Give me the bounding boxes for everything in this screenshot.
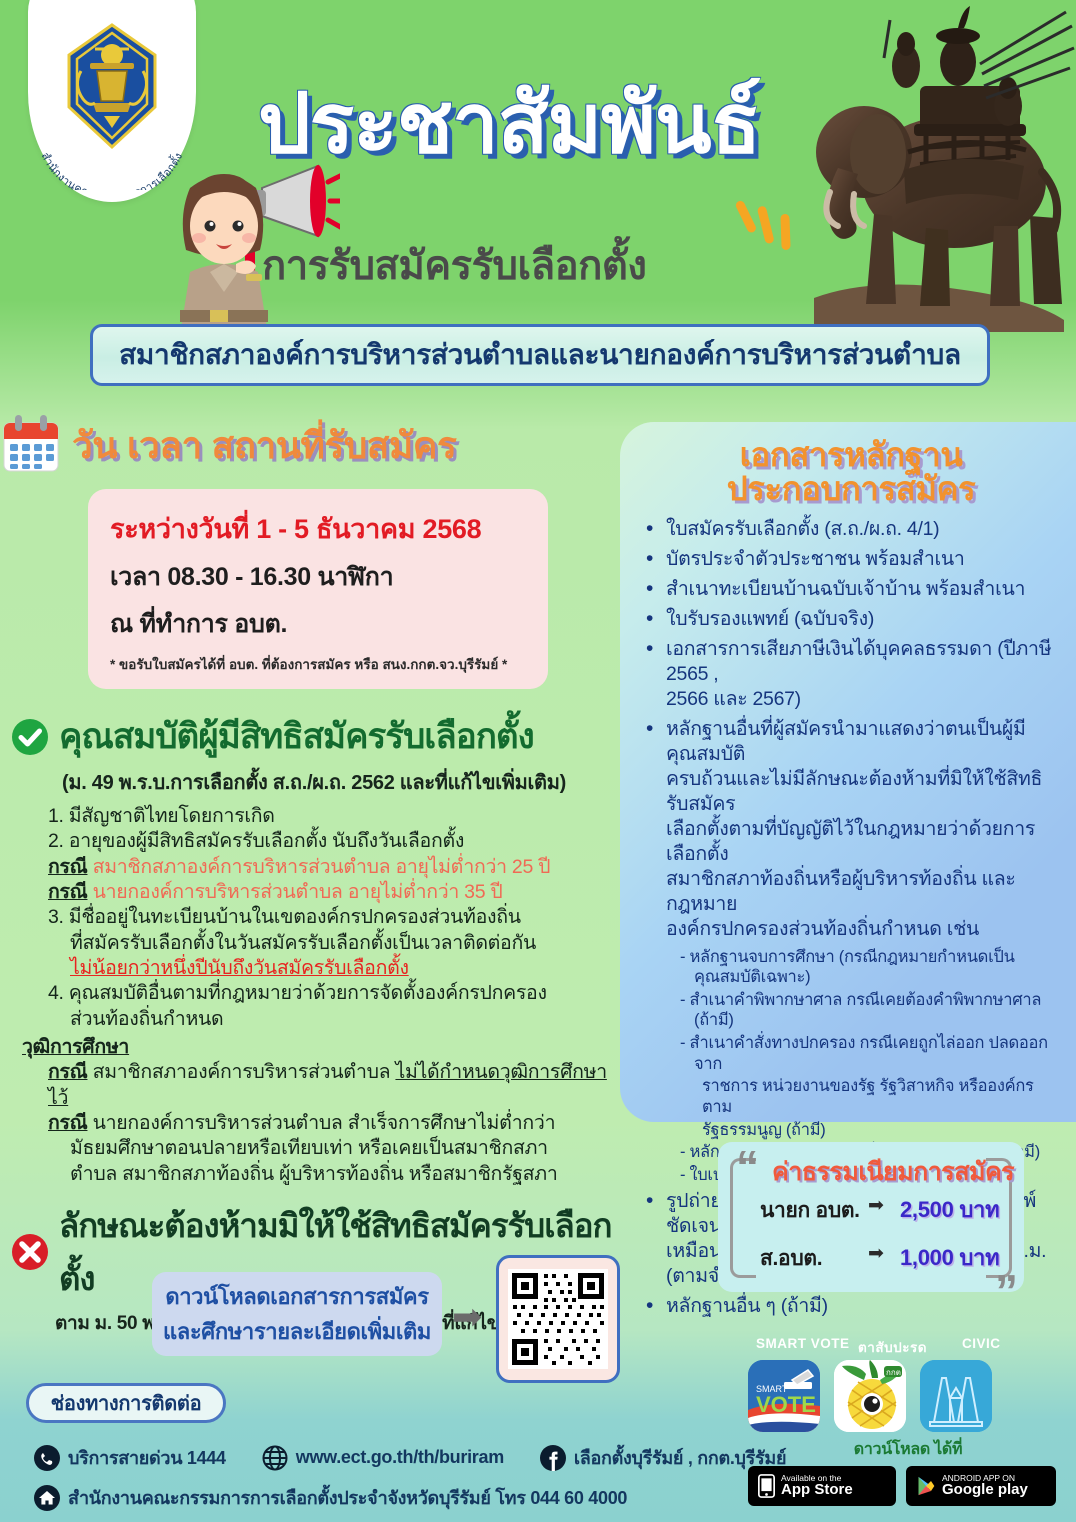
schedule-heading: วัน เวลา สถานที่รับสมัคร [72,416,456,475]
qr-code-image[interactable] [508,1269,608,1369]
contact-channels-pill: ช่องทางการติดต่อ [26,1383,226,1423]
qualifications-heading: คุณสมบัติผู้มีสิทธิสมัครรับเลือกตั้ง [59,709,534,764]
edu-case-2: กรณี นายกองค์การบริหารส่วนตำบล สำเร็จการ… [48,1111,613,1136]
phone-icon [34,1445,60,1471]
check-circle-icon [10,717,50,757]
google-play-big: Google play [942,1482,1028,1498]
fee-title: ค่าธรรมเนียมการสมัคร [772,1152,1014,1192]
edu-case-label-2: กรณี [48,1112,87,1134]
store-badges: Available on the App Store ANDROID APP O… [748,1466,1068,1506]
case-text-2: นายกองค์การบริหารส่วนตำบล อายุไม่ต่ำกว่า… [93,881,503,903]
quote-open-icon: “ [736,1144,759,1190]
iphone-icon [758,1474,775,1498]
edu-case-2-text: นายกองค์การบริหารส่วนตำบล สำเร็จการศึกษา… [93,1112,556,1134]
edu-case-2-line3: ตำบล สมาชิกสภาท้องถิ่น ผู้บริหารท้องถิ่น… [48,1162,613,1187]
qual-item-1: 1. มีสัญชาติไทยโดยการเกิด [48,804,613,829]
left-column: วัน เวลา สถานที่รับสมัคร ระหว่างวันที่ 1… [0,415,620,1338]
apps-section: SMART VOTE ตาสับปะรด CIVIC SMART VOTE [748,1336,1068,1506]
doc-sub-item: - สำเนาคำพิพากษาศาล กรณีเคยต้องคำพิพากษา… [642,990,1060,1031]
qual-item-4-line2: ส่วนท้องถิ่นกำหนด [48,1007,613,1032]
case-label-1: กรณี [48,856,87,878]
smart-vote-app-icon[interactable]: SMART VOTE [748,1360,820,1432]
qual-item-3-line2: ที่สมัครรับเลือกตั้งในวันสมัครรับเลือกตั… [48,931,613,956]
case-label-2: กรณี [48,881,87,903]
qual-case-1: กรณี สมาชิกสภาองค์การบริหารส่วนตำบล อายุ… [48,855,613,880]
contact-pill-label: ช่องทางการติดต่อ [51,1387,202,1419]
download-box: ดาวน์โหลดเอกสารการสมัคร และศึกษารายละเอี… [152,1272,442,1356]
documents-title: เอกสารหลักฐาน ประกอบการสมัคร [642,438,1060,505]
banner-text: สมาชิกสภาองค์การบริหารส่วนตำบลและนายกองค… [119,333,961,377]
fee-row-1-amount: 2,500 บาท [900,1192,999,1227]
smart-vote-icon-big: VOTE [756,1392,816,1417]
app-store-big: App Store [781,1482,853,1498]
qual-item-3-line3: ไม่น้อยกว่าหนึ่งปีนับถึงวันสมัครรับเลือก… [48,956,613,981]
poster-header: สำนักงานคณะกรรมการการเลือกตั้ง [0,0,1076,400]
doc-sub-item: - หลักฐานจบการศึกษา (กรณีกฎหมายกำหนดเป็น… [642,947,1060,988]
education-label: วุฒิการศึกษา [22,1035,613,1060]
doc-sub-item-cont: รัฐธรรมนูญ (ถ้ามี) [642,1120,1060,1141]
qual-item-3-emphasis: ไม่น้อยกว่าหนึ่งปีนับถึงวันสมัครรับเลือก… [70,957,409,979]
calendar-icon [0,415,62,475]
civic-app-icon[interactable] [920,1360,992,1432]
schedule-time: เวลา 08.30 - 16.30 นาฬิกา [110,557,526,597]
qualifications-heading-row: คุณสมบัติผู้มีสิทธิสมัครรับเลือกตั้ง [10,709,620,764]
edu-case-1: กรณี สมาชิกสภาองค์การบริหารส่วนตำบล ไม่ไ… [48,1060,613,1111]
x-circle-icon [10,1232,50,1272]
doc-other-line2: ครบถ้วนและไม่มีลักษณะต้องห้ามที่มิให้ใช้… [666,768,1042,815]
app-labels: SMART VOTE ตาสับปะรด CIVIC [748,1336,1068,1356]
doc-item: บัตรประจำตัวประชาชน พร้อมสำเนา [642,547,1060,572]
contact-row-1: บริการสายด่วน 1444 www.ect.go.th/th/buri… [34,1443,786,1472]
edu-case-label-1: กรณี [48,1061,87,1083]
edu-case-2-line2: มัธยมศึกษาตอนปลายหรือเทียบเท่า หรือเคยเป… [48,1136,613,1161]
elephant-statue-image [786,2,1076,332]
doc-other-line4: สมาชิกสภาท้องถิ่นหรือผู้บริหารท้องถิ่น แ… [666,868,1016,915]
globe-icon [262,1445,288,1471]
facebook-icon [540,1445,566,1471]
app-label-smart-vote: SMART VOTE [756,1336,850,1351]
documents-title-line2: ประกอบการสมัคร [642,472,1060,506]
qualifications-list: 1. มีสัญชาติไทยโดยการเกิด 2. อายุของผู้ม… [48,804,613,1187]
doc-sub-item-cont: ราชการ หน่วยงานของรัฐ รัฐวิสาหกิจ หรืออง… [642,1076,1060,1117]
schedule-note: * ขอรับใบสมัครได้ที่ อบต. ที่ต้องการสมัค… [110,653,526,675]
edu-case-1-text: สมาชิกสภาองค์การบริหารส่วนตำบล [93,1061,391,1083]
ta-sapparod-app-icon[interactable]: กกต [834,1360,906,1432]
contact-row-2: สำนักงานคณะกรรมการการเลือกตั้งประจำจังหว… [34,1483,627,1512]
hotline-text: บริการสายด่วน 1444 [68,1443,226,1472]
app-store-badge[interactable]: Available on the App Store [748,1466,896,1506]
home-icon [34,1485,60,1511]
banner-position-title: สมาชิกสภาองค์การบริหารส่วนตำบลและนายกองค… [90,324,990,386]
download-line-1: ดาวน์โหลดเอกสารการสมัคร [165,1279,428,1314]
doc-item-tax: เอกสารการเสียภาษีเงินได้บุคคลธรรมดา (ปีภ… [642,637,1060,712]
google-play-badge[interactable]: ANDROID APP ON Google play [906,1466,1056,1506]
poster-root: สำนักงานคณะกรรมการการเลือกตั้ง [0,0,1076,1522]
website-text[interactable]: www.ect.go.th/th/buriram [296,1447,504,1468]
fee-box: “ ” ค่าธรรมเนียมการสมัคร นายก อบต. ➡ 2,5… [718,1142,1024,1292]
app-label-civic: CIVIC [962,1336,1001,1351]
sapparod-icon-tag: กกต [886,1368,901,1377]
fee-row-2-amount: 1,000 บาท [900,1240,999,1275]
schedule-place: ณ ที่ทำการ อบต. [110,604,526,644]
page-title: ประชาสัมพันธ์ [258,82,760,165]
schedule-date-range: ระหว่างวันที่ 1 - 5 ธันวาคม 2568 [110,507,526,550]
page-subtitle: การรับสมัครรับเลือกตั้ง [262,233,646,297]
google-play-icon [916,1475,936,1497]
doc-other-line5: องค์กรปกครองส่วนท้องถิ่นกำหนด เช่น [666,918,979,940]
doc-item: ใบสมัครรับเลือกตั้ง (ส.ถ./ผ.ถ. 4/1) [642,517,1060,542]
documents-panel: เอกสารหลักฐาน ประกอบการสมัคร ใบสมัครรับเ… [620,422,1076,1122]
qual-item-2: 2. อายุของผู้มีสิทธิสมัครรับเลือกตั้ง นั… [48,829,613,854]
fee-row-1-label: นายก อบต. [760,1194,860,1227]
doc-tax-line1: เอกสารการเสียภาษีเงินได้บุคคลธรรมดา (ปีภ… [666,638,1051,685]
office-text: สำนักงานคณะกรรมการการเลือกตั้งประจำจังหว… [68,1483,627,1512]
fee-arrow-icon: ➡ [868,1194,884,1217]
doc-tax-line2: 2566 และ 2567) [666,688,801,710]
doc-item-other: หลักฐานอื่นที่ผู้สมัครนำมาแสดงว่าตนเป็นผ… [642,717,1060,942]
case-text-1: สมาชิกสภาองค์การบริหารส่วนตำบล อายุไม่ต่… [93,856,551,878]
app-label-ta-sapparod: ตาสับปะรด [858,1336,927,1358]
qual-item-3-line1: 3. มีชื่ออยู่ในทะเบียนบ้านในเขตองค์กรปกค… [48,905,613,930]
download-at-label: ดาวน์โหลด ได้ที่ [748,1437,1068,1462]
qual-case-2: กรณี นายกองค์การบริหารส่วนตำบล อายุไม่ต่… [48,880,613,905]
doc-item: ใบรับรองแพทย์ (ฉบับจริง) [642,607,1060,632]
fee-row-2-label: ส.อบต. [760,1242,822,1275]
doc-item: สำเนาทะเบียนบ้านฉบับเจ้าบ้าน พร้อมสำเนา [642,577,1060,602]
download-line-2: และศึกษารายละเอียดเพิ่มเติม [163,1314,431,1349]
app-icons-row: SMART VOTE [748,1360,1068,1432]
fee-arrow-icon: ➡ [868,1242,884,1265]
qualifications-law-ref: (ม. 49 พ.ร.บ.การเลือกตั้ง ส.ถ./ผ.ถ. 2562… [62,766,620,798]
download-arrow-icon: ➡ [452,1296,482,1338]
doc-sub-item: - สำเนาคำสั่งทางปกครอง กรณีเคยถูกไล่ออก … [642,1033,1060,1074]
qual-item-4-line1: 4. คุณสมบัติอื่นตามที่กฎหมายว่าด้วยการจั… [48,981,613,1006]
doc-other-line1: หลักฐานอื่นที่ผู้สมัครนำมาแสดงว่าตนเป็นผ… [666,718,1026,765]
schedule-heading-row: วัน เวลา สถานที่รับสมัคร [0,415,620,475]
documents-title-line1: เอกสารหลักฐาน [642,438,1060,472]
doc-other-line3: เลือกตั้งตามที่บัญญัติไว้ในกฎหมายว่าด้วย… [666,818,1035,865]
schedule-box: ระหว่างวันที่ 1 - 5 ธันวาคม 2568 เวลา 08… [88,489,548,689]
qr-code-frame[interactable] [496,1255,620,1383]
